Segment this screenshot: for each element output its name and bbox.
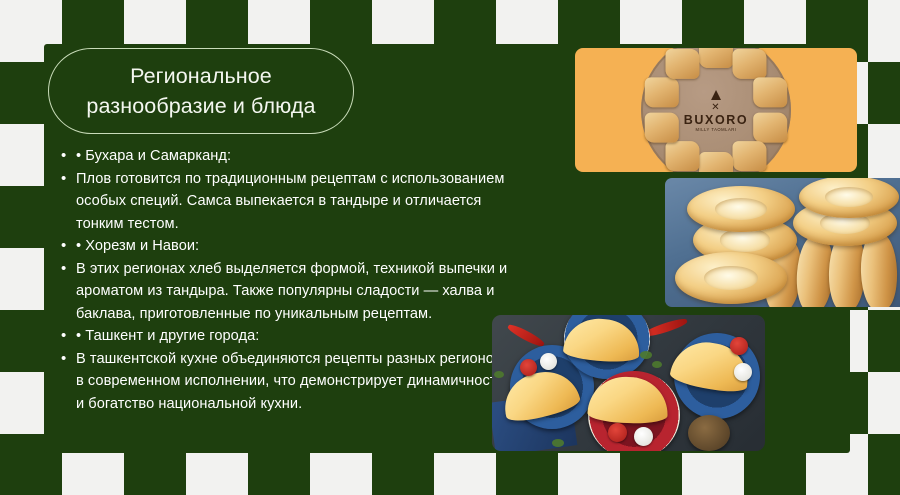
- list-item: • • Хорезм и Навои:: [58, 235, 510, 258]
- list-item-text: В ташкентской кухне объединяются рецепты…: [76, 348, 510, 416]
- bullet-dot-icon: •: [58, 168, 76, 191]
- list-item-text: Плов готовится по традиционным рецептам …: [76, 168, 510, 236]
- chebureki-platters-photo: [492, 315, 765, 451]
- flame-icon: ▲: [680, 87, 752, 103]
- list-item-text: • Бухара и Самарканд:: [76, 145, 510, 168]
- wooden-board: ▲ ✕ BUXORO MILLY TAOMLARI: [641, 48, 791, 172]
- list-item: • В ташкентской кухне объединяются рецеп…: [58, 348, 510, 416]
- crossed-utensils-icon: ✕: [680, 103, 752, 113]
- brand-name: BUXORO: [680, 113, 752, 127]
- bullet-dot-icon: •: [58, 348, 76, 371]
- list-item: • • Ташкент и другие города:: [58, 325, 510, 348]
- bullet-dot-icon: •: [58, 235, 76, 258]
- list-item-text: В этих регионах хлеб выделяется формой, …: [76, 258, 510, 326]
- page-title: Региональное разнообразие и блюда: [80, 61, 321, 121]
- list-item: • Плов готовится по традиционным рецепта…: [58, 168, 510, 236]
- bullet-dot-icon: •: [58, 258, 76, 281]
- list-item: • • Бухара и Самарканд:: [58, 145, 510, 168]
- buxoro-logo: ▲ ✕ BUXORO MILLY TAOMLARI: [680, 87, 752, 133]
- title-line-1: Региональное: [86, 61, 315, 91]
- bullet-list: • • Бухара и Самарканд: • Плов готовится…: [58, 145, 510, 415]
- samsa-platter-photo: ▲ ✕ BUXORO MILLY TAOMLARI: [575, 48, 857, 172]
- brand-subtitle: MILLY TAOMLARI: [680, 127, 752, 133]
- uzbek-bread-photo: [665, 178, 900, 307]
- bullet-dot-icon: •: [58, 325, 76, 348]
- list-item: • В этих регионах хлеб выделяется формой…: [58, 258, 510, 326]
- slide-title-container: Региональное разнообразие и блюда: [48, 48, 354, 134]
- list-item-text: • Хорезм и Навои:: [76, 235, 510, 258]
- list-item-text: • Ташкент и другие города:: [76, 325, 510, 348]
- bullet-dot-icon: •: [58, 145, 76, 168]
- title-line-2: разнообразие и блюда: [86, 91, 315, 121]
